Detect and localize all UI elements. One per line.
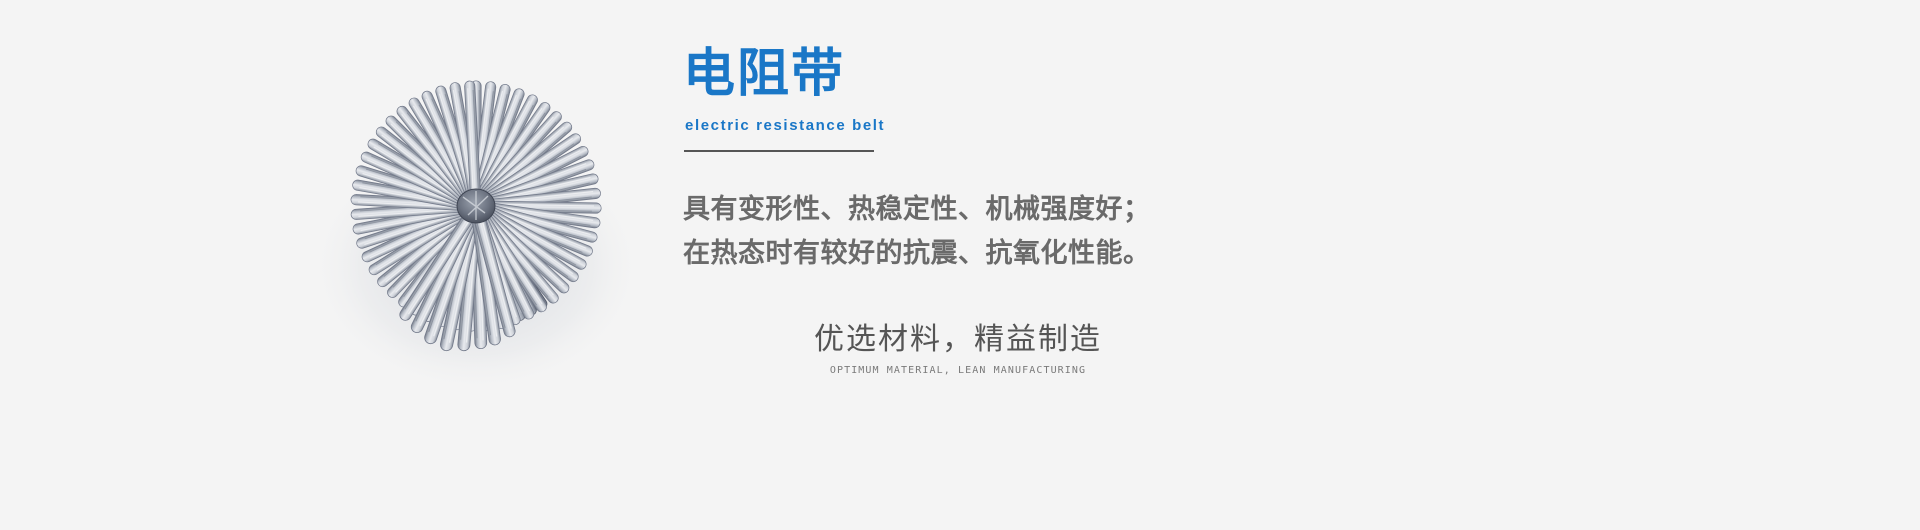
product-banner: 电阻带 electric resistance belt 具有变形性、热稳定性、… [0,0,1920,530]
resistance-belt-coil-icon [296,56,656,386]
title-divider [684,150,874,152]
slogan-cn: 优选材料，精益制造 [778,320,1138,360]
banner-text-column: 电阻带 electric resistance belt 具有变形性、热稳定性、… [683,0,1583,530]
page-title: 电阻带 [683,48,845,100]
feature-description: 具有变形性、热稳定性、机械强度好； 在热态时有较好的抗震、抗氧化性能。 [683,188,1303,276]
slogan-en: OPTIMUM MATERIAL, LEAN MANUFACTURING [778,364,1138,378]
page-subtitle: electric resistance belt [685,118,885,133]
feature-line-1: 具有变形性、热稳定性、机械强度好； [683,188,1303,232]
product-image [296,56,656,386]
feature-line-2: 在热态时有较好的抗震、抗氧化性能。 [683,232,1303,276]
slogan-block: 优选材料，精益制造 OPTIMUM MATERIAL, LEAN MANUFAC… [778,320,1138,378]
coil-illustration [296,56,656,386]
